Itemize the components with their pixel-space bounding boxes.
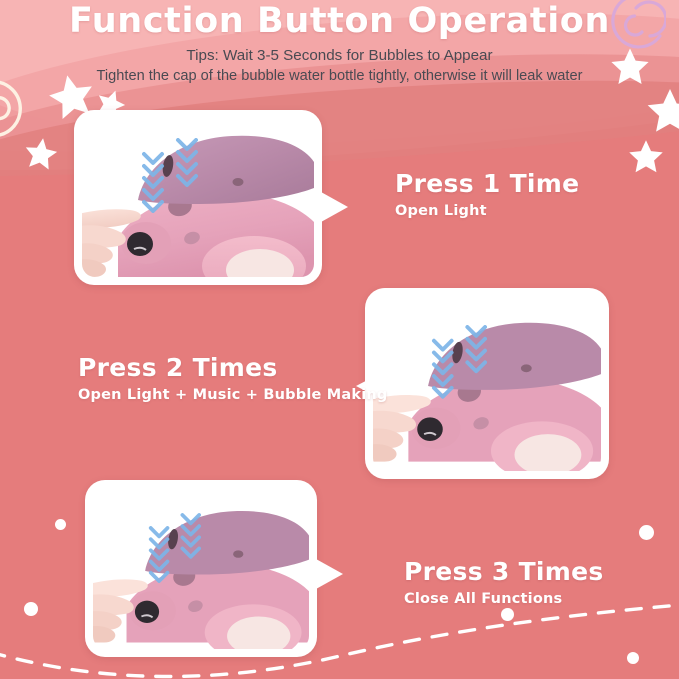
step-title: Press 1 Time bbox=[395, 168, 579, 200]
dot-icon bbox=[55, 519, 66, 530]
tips-line-2: Tighten the cap of the bubble water bott… bbox=[0, 66, 679, 86]
toy-illustration bbox=[93, 488, 309, 649]
step-title: Press 2 Times bbox=[78, 352, 388, 384]
step-image-inner bbox=[373, 296, 601, 471]
step-subtitle: Open Light bbox=[395, 200, 579, 222]
step-caption-press-3: Press 3 Times Close All Functions bbox=[404, 556, 604, 610]
toy-illustration bbox=[373, 296, 601, 471]
tips-line-1: Tips: Wait 3-5 Seconds for Bubbles to Ap… bbox=[186, 47, 492, 64]
step-caption-press-2: Press 2 Times Open Light + Music + Bubbl… bbox=[78, 352, 388, 406]
step-title: Press 3 Times bbox=[404, 556, 604, 588]
page-title: Function Button Operation bbox=[0, 0, 679, 44]
step-caption-press-1: Press 1 Time Open Light bbox=[395, 168, 579, 222]
step-image-press-1 bbox=[74, 110, 322, 285]
dot-icon bbox=[639, 525, 654, 540]
callout-tail bbox=[316, 559, 343, 589]
star-icon bbox=[646, 86, 679, 134]
step-subtitle: Open Light + Music + Bubble Making bbox=[78, 384, 388, 406]
toy-illustration bbox=[82, 118, 314, 277]
star-icon bbox=[628, 138, 664, 174]
tips-text: Tips: Wait 3-5 Seconds for Bubbles to Ap… bbox=[0, 46, 679, 86]
step-subtitle: Close All Functions bbox=[404, 588, 604, 610]
step-image-inner bbox=[82, 118, 314, 277]
callout-tail bbox=[321, 192, 348, 222]
step-image-press-2 bbox=[365, 288, 609, 479]
page-root: Function Button Operation Tips: Wait 3-5… bbox=[0, 0, 679, 679]
step-image-inner bbox=[93, 488, 309, 649]
star-icon bbox=[22, 134, 60, 172]
step-image-press-3 bbox=[85, 480, 317, 657]
